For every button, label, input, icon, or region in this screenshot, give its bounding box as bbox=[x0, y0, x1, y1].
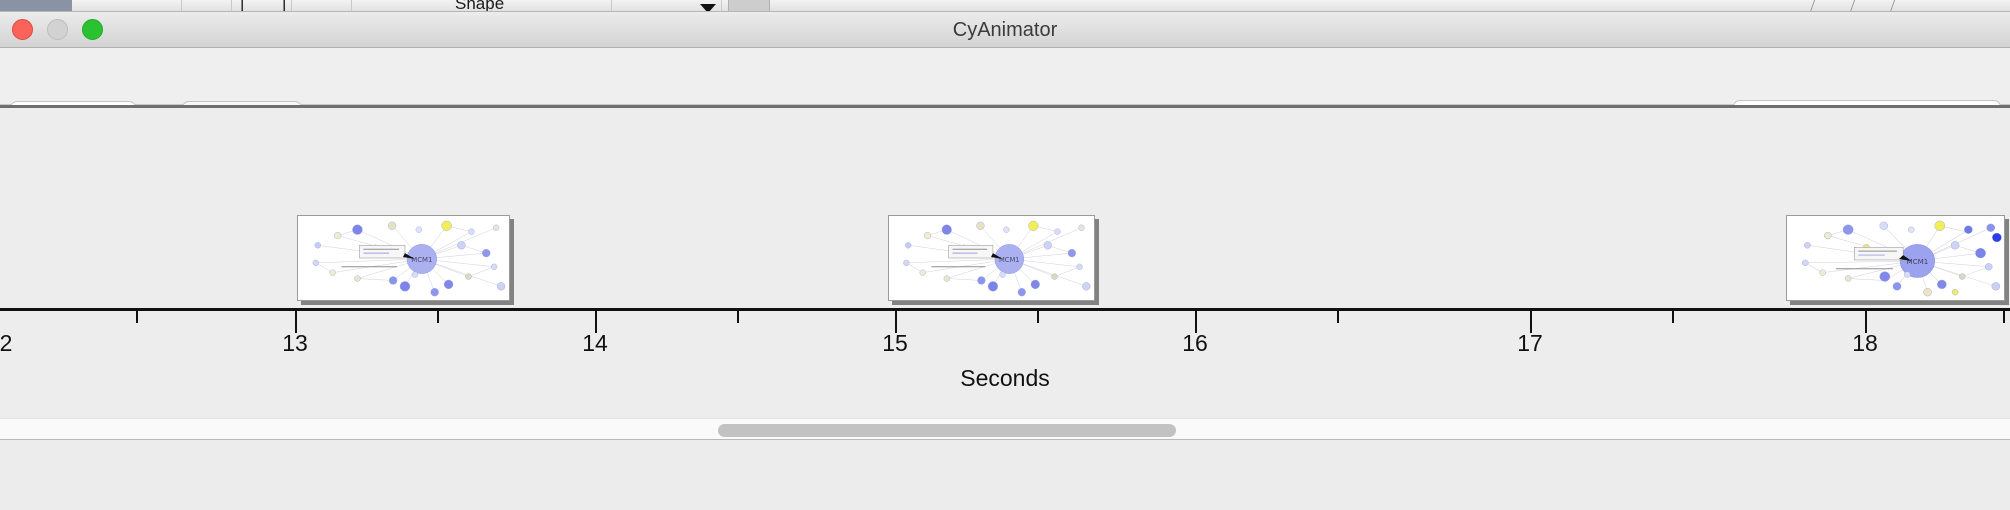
axis-tick-minor bbox=[1672, 311, 1674, 323]
axis-title: Seconds bbox=[0, 365, 2010, 392]
timeline-frame-thumbnail[interactable]: MCM1 bbox=[888, 215, 1095, 301]
title-bar[interactable]: CyAnimator bbox=[0, 12, 2010, 48]
axis-tick-label: 14 bbox=[582, 330, 608, 357]
cyanimator-window: | | Shape CyAnimator bbox=[0, 0, 2010, 510]
axis-tick-label: 15 bbox=[882, 330, 908, 357]
network-graph-thumbnail: MCM1 bbox=[1787, 216, 2004, 300]
timeline-frame-thumbnail[interactable]: MCM1 bbox=[297, 215, 510, 301]
timeline-scrollbar-track[interactable] bbox=[0, 418, 2010, 440]
axis-tick-minor bbox=[737, 311, 739, 323]
background-app-label: Shape bbox=[455, 0, 504, 12]
svg-text:MCM1: MCM1 bbox=[411, 256, 432, 264]
svg-text:MCM1: MCM1 bbox=[999, 256, 1020, 264]
background-app-strip: | | Shape bbox=[0, 0, 2010, 12]
minimize-button[interactable] bbox=[47, 19, 68, 40]
window-title: CyAnimator bbox=[0, 12, 2010, 48]
axis-tick-minor bbox=[1337, 311, 1339, 323]
toolbar: Clear All Frames bbox=[0, 48, 2010, 105]
axis-tick-label: 18 bbox=[1852, 330, 1878, 357]
background-cursor-icon bbox=[700, 4, 716, 12]
axis-tick-label: 2 bbox=[0, 330, 12, 357]
traffic-lights bbox=[12, 19, 103, 40]
timeline-scrollbar-thumb[interactable] bbox=[718, 424, 1176, 437]
network-graph-thumbnail: MCM1 bbox=[298, 216, 509, 300]
background-button bbox=[728, 0, 770, 12]
axis-tick-label: 17 bbox=[1517, 330, 1543, 357]
axis-tick-minor bbox=[1037, 311, 1039, 323]
axis-tick-label: 13 bbox=[282, 330, 308, 357]
timeline-panel[interactable]: MCM1 bbox=[0, 108, 2010, 418]
axis-tick-label: 16 bbox=[1182, 330, 1208, 357]
axis-tick-minor bbox=[2003, 311, 2005, 323]
axis-tick-minor bbox=[136, 311, 138, 323]
network-graph-thumbnail: MCM1 bbox=[889, 216, 1094, 300]
zoom-button[interactable] bbox=[82, 19, 103, 40]
background-selected-chip bbox=[0, 0, 72, 12]
playback-control-bar: Animation Speed: bbox=[0, 441, 2010, 510]
close-button[interactable] bbox=[12, 19, 33, 40]
axis-tick-minor bbox=[437, 311, 439, 323]
timeline-frame-thumbnail[interactable]: MCM1 bbox=[1786, 215, 2005, 301]
timeline-axis bbox=[0, 308, 2010, 311]
svg-text:MCM1: MCM1 bbox=[1907, 258, 1929, 266]
